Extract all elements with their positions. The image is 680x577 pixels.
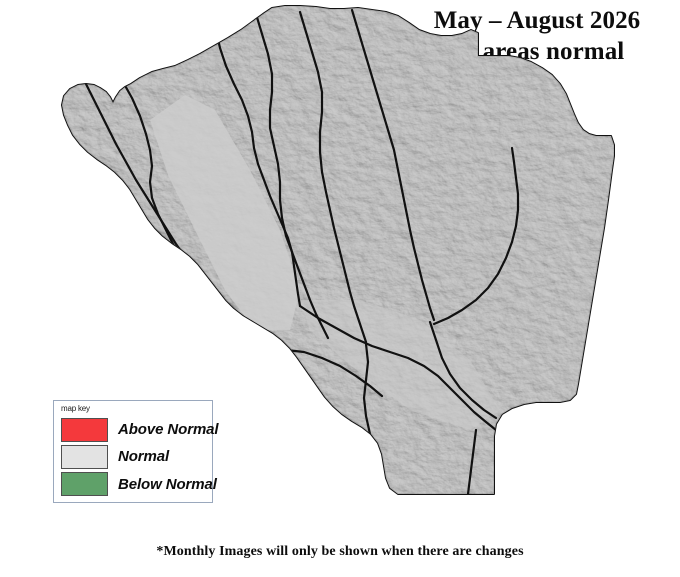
page-root: May – August 2026 all areas normal (0, 0, 680, 577)
legend-item-above-normal: Above Normal (54, 416, 212, 443)
swatch-below-normal (61, 472, 108, 496)
footnote-text: *Monthly Images will only be shown when … (0, 544, 680, 560)
map-key-title: map key (61, 404, 90, 413)
legend-label-normal: Normal (118, 448, 169, 465)
map-key-legend: map key Above Normal Normal Below Normal (53, 400, 213, 503)
legend-label-below-normal: Below Normal (118, 476, 217, 493)
legend-label-above-normal: Above Normal (118, 421, 219, 438)
legend-item-below-normal: Below Normal (54, 471, 212, 498)
map-key-rows: Above Normal Normal Below Normal (54, 414, 212, 502)
swatch-above-normal (61, 418, 108, 442)
legend-item-normal: Normal (54, 443, 212, 470)
swatch-normal (61, 445, 108, 469)
